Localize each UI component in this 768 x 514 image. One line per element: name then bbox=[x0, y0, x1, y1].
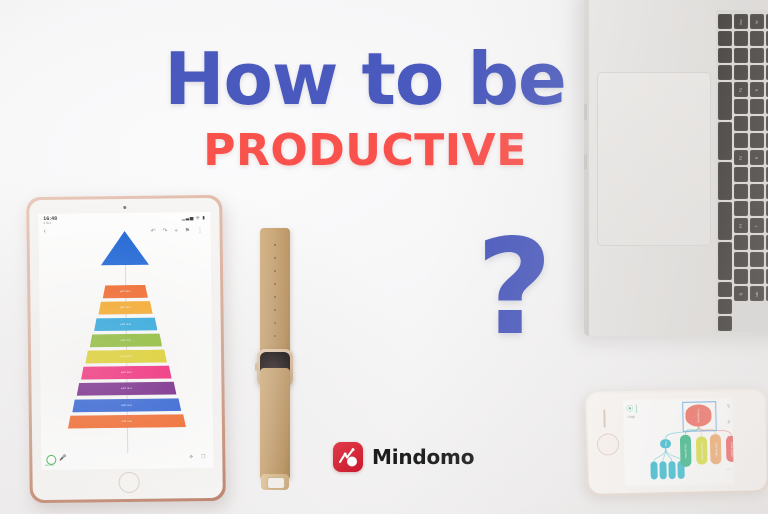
keyboard-key[interactable] bbox=[734, 65, 748, 80]
question-mark: ? bbox=[476, 222, 553, 354]
phone-home-button[interactable] bbox=[597, 433, 619, 455]
mindmap-canvas[interactable]: ProductivityPlanSet prioritiesAvoid mult… bbox=[641, 400, 718, 484]
keyboard-key[interactable] bbox=[734, 133, 748, 148]
keyboard-key[interactable]: F1 bbox=[734, 82, 748, 97]
pyramid-layer[interactable]: add text bbox=[94, 317, 157, 331]
bottom-right-icons[interactable]: ❖ ❐ bbox=[189, 454, 208, 460]
watch-strap-holes bbox=[274, 244, 276, 348]
record-label: Record bbox=[45, 463, 53, 466]
mindmap-icon[interactable]: ⦿│ bbox=[626, 404, 640, 414]
keyboard-key[interactable] bbox=[718, 282, 732, 297]
pyramid-layer-label: add text bbox=[120, 290, 131, 293]
keyboard-key[interactable] bbox=[734, 116, 748, 131]
pyramid-layer[interactable]: add text bbox=[103, 285, 148, 299]
node-label: Track results bbox=[730, 441, 733, 456]
keyboard-key[interactable] bbox=[750, 99, 764, 114]
keyboard-key[interactable] bbox=[734, 252, 748, 267]
keyboard-key[interactable] bbox=[734, 201, 748, 216]
pyramid-layer[interactable]: add text bbox=[90, 333, 163, 347]
node-label: Avoid multitask bbox=[700, 442, 703, 459]
keyboard-key[interactable]: tab bbox=[750, 286, 764, 301]
keyboard-key[interactable] bbox=[734, 48, 748, 63]
mindmap-child-node[interactable] bbox=[668, 461, 675, 479]
pyramid-layer[interactable]: add text bbox=[77, 382, 177, 396]
keyboard-key[interactable]: W bbox=[750, 14, 764, 29]
tablet-bezel: 16:48 0 files ▁▃▅ ᯤ ▮ ‹ ↶ ↷ + ⚑ ⋮ add te… bbox=[29, 198, 223, 500]
keyboard-key[interactable] bbox=[750, 201, 764, 216]
tablet-bottom-bar: Record 🎤 ❖ ❐ bbox=[46, 453, 208, 468]
pyramid-layer-label: add text bbox=[121, 420, 132, 423]
pyramid-layer-label: add text bbox=[121, 371, 132, 374]
keyboard-key[interactable] bbox=[718, 65, 732, 80]
tablet-camera-icon bbox=[123, 206, 126, 209]
mindmap-branch-node[interactable]: Track results bbox=[726, 436, 734, 462]
pyramid-layer[interactable]: add text bbox=[85, 350, 167, 364]
keyboard-key[interactable] bbox=[750, 116, 764, 131]
keyboard-key[interactable] bbox=[718, 31, 732, 46]
keyboard-key[interactable]: Q bbox=[734, 286, 748, 301]
keyboard-key[interactable] bbox=[734, 31, 748, 46]
pyramid-layer[interactable]: add text bbox=[98, 301, 152, 315]
keyboard-key[interactable]: F3 bbox=[734, 218, 748, 233]
watch-buckle bbox=[261, 474, 289, 490]
keyboard-key[interactable]: R bbox=[750, 150, 764, 165]
keyboard-key[interactable] bbox=[750, 252, 764, 267]
phone-speaker bbox=[603, 409, 605, 427]
microphone-icon[interactable]: 🎤 bbox=[59, 455, 67, 462]
keyboard-key[interactable] bbox=[734, 167, 748, 182]
keyboard-key[interactable] bbox=[718, 48, 732, 63]
node-label: Plan bbox=[664, 441, 667, 446]
pyramid-layer-label: add text bbox=[120, 339, 131, 342]
mindmap-branch-node[interactable]: Plan bbox=[660, 439, 671, 448]
phone-screen[interactable]: ⦿│ map ↶ ↷ + ⚑ ⋮ ProductivityPlanSet pri… bbox=[623, 398, 734, 486]
pyramid-layer-label: add text bbox=[119, 225, 130, 228]
mindmap-branch-node[interactable]: Avoid multitask bbox=[696, 436, 708, 464]
keyboard-key[interactable] bbox=[718, 202, 732, 240]
phone-toolbar-sub: map bbox=[627, 414, 635, 419]
keyboard-key[interactable] bbox=[734, 184, 748, 199]
poster-canvas: escF1F2F3QWERTtabcapsshiftctrlaltcmdspac… bbox=[0, 0, 768, 514]
keyboard-key[interactable] bbox=[750, 269, 764, 284]
keyboard-key[interactable]: T bbox=[750, 218, 764, 233]
watch-crown[interactable] bbox=[255, 363, 258, 371]
keyboard-key[interactable] bbox=[750, 65, 764, 80]
keyboard-key[interactable] bbox=[718, 162, 732, 200]
pyramid-layer-label: add text bbox=[121, 355, 132, 358]
keyboard-key[interactable] bbox=[718, 82, 732, 120]
laptop-port bbox=[584, 154, 587, 170]
pyramid-layer[interactable]: add text bbox=[72, 398, 181, 412]
tablet-screen[interactable]: 16:48 0 files ▁▃▅ ᯤ ▮ ‹ ↶ ↷ + ⚑ ⋮ add te… bbox=[38, 212, 213, 470]
mindmap-child-node[interactable] bbox=[659, 461, 666, 479]
smartwatch-device bbox=[252, 228, 298, 496]
keyboard-key[interactable] bbox=[750, 167, 764, 182]
keyboard-key[interactable] bbox=[734, 235, 748, 250]
keyboard-key[interactable] bbox=[734, 99, 748, 114]
pyramid-layer-label: add text bbox=[121, 404, 132, 407]
watch-strap-bottom bbox=[260, 368, 290, 480]
brand-logo[interactable]: Mindomo bbox=[333, 442, 474, 472]
node-label: Take breaks bbox=[714, 442, 717, 456]
keyboard-key[interactable] bbox=[750, 235, 764, 250]
pyramid-layer-label: add text bbox=[120, 323, 131, 326]
keyboard-key[interactable] bbox=[718, 122, 732, 160]
status-right-icons: ▁▃▅ ᯤ ▮ bbox=[182, 215, 206, 221]
keyboard-key[interactable] bbox=[718, 14, 732, 29]
node-label: Set priorities bbox=[684, 444, 687, 458]
keyboard-key[interactable]: E bbox=[750, 82, 764, 97]
tablet-home-button[interactable] bbox=[118, 472, 139, 493]
phone-device: ⦿│ map ↶ ↷ + ⚑ ⋮ ProductivityPlanSet pri… bbox=[585, 388, 768, 496]
laptop-device: escF1F2F3QWERTtabcapsshiftctrlaltcmdspac… bbox=[584, 0, 768, 336]
keyboard-key[interactable] bbox=[750, 31, 764, 46]
toolbar-icons[interactable]: ↶ ↷ + ⚑ ⋮ bbox=[151, 227, 206, 235]
headline-line2: PRODUCTIVE bbox=[150, 126, 580, 176]
mindmap-branch-node[interactable]: Take breaks bbox=[710, 434, 722, 464]
pyramid-chart[interactable]: add textadd textadd textadd textadd text… bbox=[39, 243, 214, 454]
tablet-device: 16:48 0 files ▁▃▅ ᯤ ▮ ‹ ↶ ↷ + ⚑ ⋮ add te… bbox=[26, 195, 226, 503]
keyboard-key[interactable] bbox=[718, 242, 732, 280]
pyramid-layer[interactable]: add text bbox=[68, 414, 186, 428]
keyboard-key[interactable] bbox=[718, 316, 732, 331]
pyramid-layer[interactable]: add text bbox=[81, 366, 172, 380]
keyboard-key[interactable] bbox=[718, 299, 732, 314]
mindmap-child-node[interactable] bbox=[650, 461, 657, 479]
mindmap-branch-node[interactable]: Set priorities bbox=[680, 435, 692, 467]
selection-box bbox=[682, 401, 717, 432]
keyboard-key[interactable] bbox=[750, 133, 764, 148]
mindomo-mark-icon bbox=[333, 442, 363, 472]
keyboard-key[interactable] bbox=[734, 269, 748, 284]
keyboard-key[interactable] bbox=[750, 184, 764, 199]
keyboard-key[interactable]: F2 bbox=[734, 150, 748, 165]
pyramid-layer-label: add text bbox=[120, 306, 131, 309]
keyboard-key[interactable]: esc bbox=[734, 14, 748, 29]
phone-bezel: ⦿│ map ↶ ↷ + ⚑ ⋮ ProductivityPlanSet pri… bbox=[587, 390, 767, 494]
laptop-trackpad[interactable] bbox=[597, 72, 711, 246]
headline-block: How to be PRODUCTIVE bbox=[150, 42, 580, 176]
keyboard-key[interactable] bbox=[750, 48, 764, 63]
laptop-keyboard[interactable]: escF1F2F3QWERTtabcapsshiftctrlaltcmdspac… bbox=[716, 10, 768, 332]
watch-strap-top bbox=[260, 228, 290, 358]
pyramid-layer-label: add text bbox=[121, 387, 132, 390]
laptop-port bbox=[584, 104, 587, 120]
brand-name: Mindomo bbox=[372, 445, 474, 469]
back-icon[interactable]: ‹ bbox=[44, 228, 46, 235]
headline-line1: How to be bbox=[150, 42, 580, 116]
